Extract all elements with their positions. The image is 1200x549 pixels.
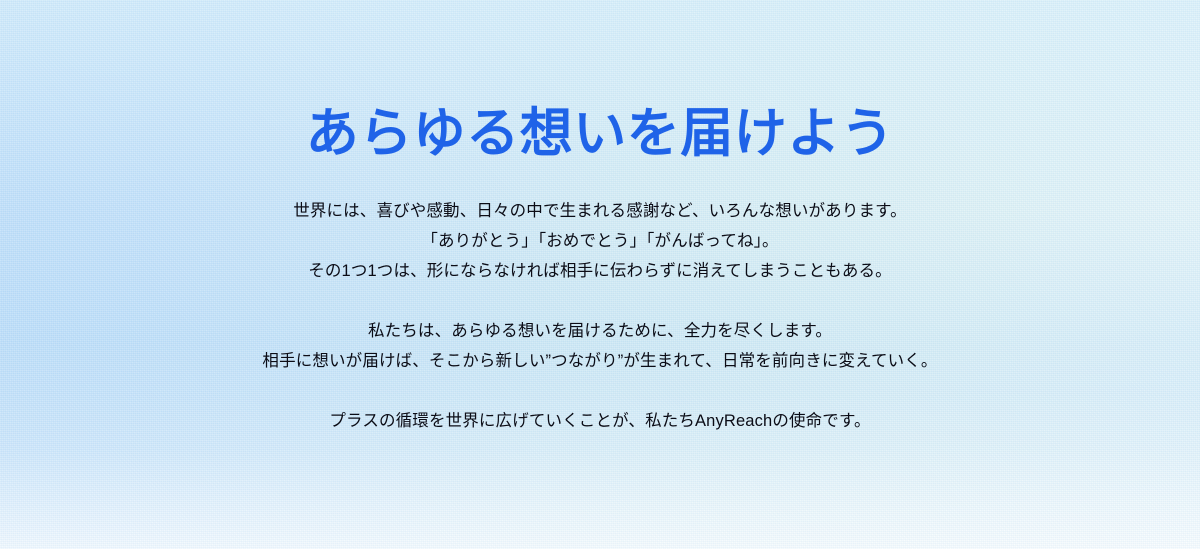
mission-line: その1つ1つは、形にならなければ相手に伝わらずに消えてしまうこともある。 <box>0 256 1200 286</box>
mission-content: あらゆる想いを届けよう 世界には、喜びや感動、日々の中で生まれる感謝など、いろん… <box>0 0 1200 549</box>
mission-line: 「ありがとう」「おめでとう」「がんばってね」。 <box>0 226 1200 256</box>
mission-section: あらゆる想いを届けよう 世界には、喜びや感動、日々の中で生まれる感謝など、いろん… <box>0 0 1200 549</box>
mission-body-text: 世界には、喜びや感動、日々の中で生まれる感謝など、いろんな想いがあります。 「あ… <box>0 196 1200 436</box>
mission-paragraph-1: 世界には、喜びや感動、日々の中で生まれる感謝など、いろんな想いがあります。 「あ… <box>0 196 1200 286</box>
paragraph-spacer <box>0 286 1200 316</box>
page-title: あらゆる想いを届けよう <box>0 104 1200 163</box>
mission-line: プラスの循環を世界に広げていくことが、私たちAnyReachの使命です。 <box>0 406 1200 436</box>
mission-line: 私たちは、あらゆる想いを届けるために、全力を尽くします。 <box>0 316 1200 346</box>
mission-line: 相手に想いが届けば、そこから新しい”つながり”が生まれて、日常を前向きに変えてい… <box>0 346 1200 376</box>
mission-paragraph-2: 私たちは、あらゆる想いを届けるために、全力を尽くします。 相手に想いが届けば、そ… <box>0 316 1200 376</box>
paragraph-spacer <box>0 376 1200 406</box>
mission-paragraph-3: プラスの循環を世界に広げていくことが、私たちAnyReachの使命です。 <box>0 406 1200 436</box>
mission-line: 世界には、喜びや感動、日々の中で生まれる感謝など、いろんな想いがあります。 <box>0 196 1200 226</box>
